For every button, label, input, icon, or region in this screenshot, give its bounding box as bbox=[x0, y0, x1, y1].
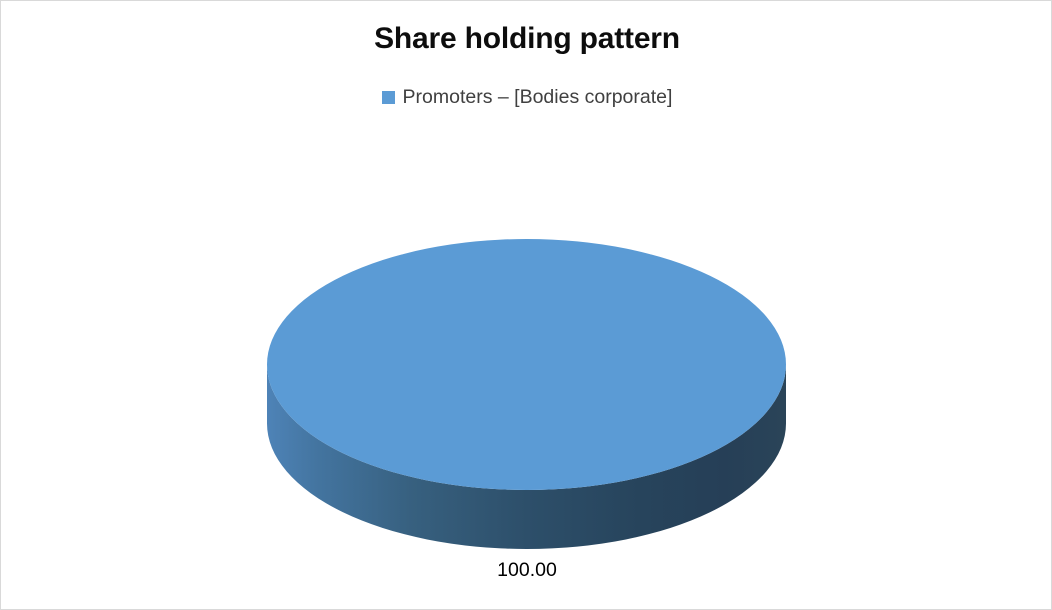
pie-chart-plot-area bbox=[267, 239, 786, 549]
legend-swatch-icon bbox=[382, 91, 395, 104]
chart-title: Share holding pattern bbox=[1, 19, 1052, 59]
pie-data-label: 100.00 bbox=[427, 558, 627, 582]
legend-entry-label: Promoters – [Bodies corporate] bbox=[403, 86, 673, 108]
pie-slice-promoters-bodies-corporate[interactable] bbox=[267, 239, 786, 490]
pie-3d-graphic bbox=[267, 239, 786, 549]
chart-legend: Promoters – [Bodies corporate] bbox=[1, 86, 1052, 108]
legend-entry[interactable]: Promoters – [Bodies corporate] bbox=[382, 86, 673, 108]
chart-canvas: Share holding pattern Promoters – [Bodie… bbox=[0, 0, 1052, 610]
